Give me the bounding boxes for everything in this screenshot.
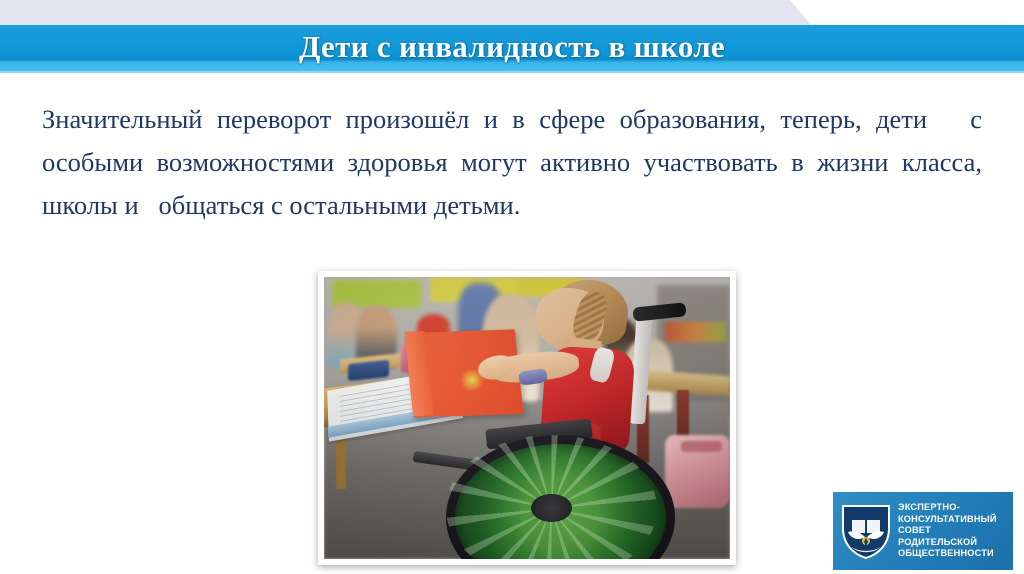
classroom-photo	[318, 271, 736, 565]
logo-line-4: РОДИТЕЛЬСКОЙ	[898, 537, 997, 548]
slide-header: Дети с инвалидность в школе	[0, 0, 1024, 80]
slide-body-text: Значительный переворот произошёл и в сфе…	[42, 98, 982, 227]
logo-line-1: ЭКСПЕРТНО-	[898, 502, 997, 513]
logo-line-3: СОВЕТ	[898, 525, 997, 536]
logo-line-2: КОНСУЛЬТАТИВНЫЙ	[898, 514, 997, 525]
shield-emblem-icon	[839, 502, 893, 560]
photo-vignette	[324, 277, 730, 559]
organization-logo-text: ЭКСПЕРТНО- КОНСУЛЬТАТИВНЫЙ СОВЕТ РОДИТЕЛ…	[898, 502, 997, 559]
logo-line-5: ОБЩЕСТВЕННОСТИ	[898, 548, 997, 559]
page-title: Дети с инвалидность в школе	[0, 25, 1024, 69]
organization-logo: ЭКСПЕРТНО- КОНСУЛЬТАТИВНЫЙ СОВЕТ РОДИТЕЛ…	[833, 492, 1013, 570]
classroom-photo-image	[324, 277, 730, 559]
header-lavender-band	[0, 0, 812, 26]
